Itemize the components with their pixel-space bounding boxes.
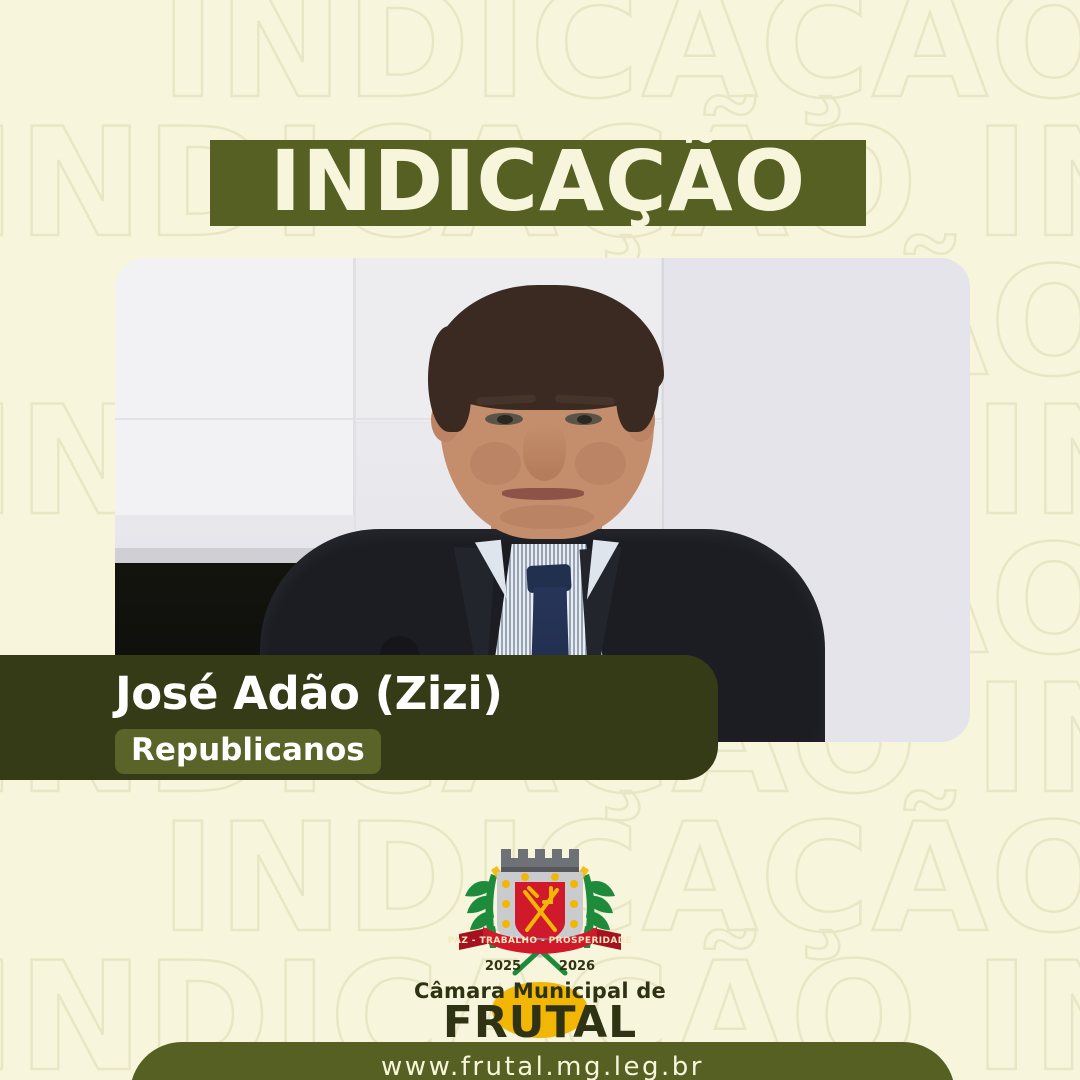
crest-crown (501, 849, 579, 872)
photo-person-mouth (502, 488, 584, 500)
photo-person-chin (500, 505, 594, 529)
title-banner: INDICAÇÃO (210, 140, 866, 226)
brand-line-city: FRUTAL (414, 1001, 666, 1045)
photo-person-collar-right (586, 540, 618, 602)
website-url[interactable]: www.frutal.mg.leg.br (381, 1054, 704, 1080)
frutal-coat-of-arms-icon: PAZ - TRABALHO - PROSPERIDADE 2025 2026 (445, 838, 635, 978)
photo-person-hair-right (616, 326, 659, 432)
crest-motto-text: PAZ - TRABALHO - PROSPERIDADE (448, 936, 632, 946)
photo-wall-panel-left (115, 258, 354, 515)
photo-person-pupil-right (577, 415, 592, 424)
crest-year-left: 2025 (485, 959, 521, 974)
party-label: Republicanos (131, 732, 365, 768)
institution-brand: PAZ - TRABALHO - PROSPERIDADE 2025 2026 … (0, 838, 1080, 1065)
photo-wall-seam-vertical-left (354, 258, 356, 529)
photo-person-pupil-left (497, 415, 512, 424)
party-badge: Republicanos (115, 729, 381, 774)
crest-year-right: 2026 (559, 959, 595, 974)
footer-bar: www.frutal.mg.leg.br (130, 1042, 955, 1080)
councillor-name-plate: José Adão (Zizi) Republicanos (0, 655, 718, 780)
photo-person-nose (523, 423, 566, 481)
watermark-row: INDICAÇÃO INDICAÇÃO INDICAÇÃO (160, 0, 1080, 120)
councillor-name: José Adão (Zizi) (115, 671, 502, 716)
poster-canvas: INDICAÇÃO INDICAÇÃO INDICAÇÃO INDICAÇÃO … (0, 0, 1080, 1080)
photo-person-hair-left (428, 326, 471, 432)
page-title: INDICAÇÃO (270, 139, 806, 223)
